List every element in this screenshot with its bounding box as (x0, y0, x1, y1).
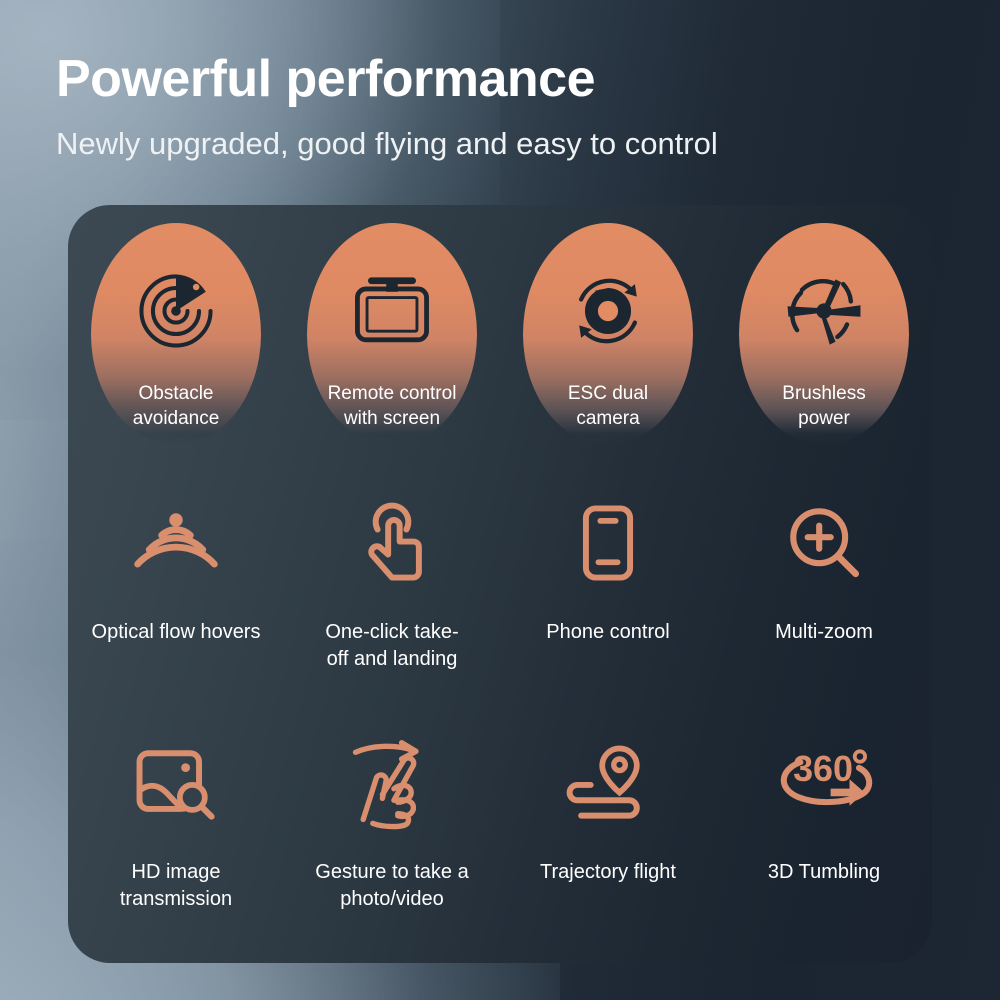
feature-label: Obstacle avoidance (68, 381, 284, 431)
360-rotation-icon: 360 (772, 735, 876, 831)
page-title: Powerful performance (56, 52, 956, 107)
feature-label: Brushless power (716, 381, 932, 431)
feature-one-click-takeoff[interactable]: One-click take- off and landing (284, 485, 500, 710)
feature-row-3: HD image transmission Gesture to take a (68, 725, 932, 950)
brushless-propeller-icon (776, 263, 872, 359)
promo-page: Powerful performance Newly upgraded, goo… (0, 0, 1000, 1000)
feature-trajectory-flight[interactable]: Trajectory flight (500, 725, 716, 950)
header: Powerful performance Newly upgraded, goo… (56, 52, 956, 162)
feature-phone-control[interactable]: Phone control (500, 485, 716, 710)
image-search-icon (124, 735, 228, 831)
feature-hd-image-transmission[interactable]: HD image transmission (68, 725, 284, 950)
feature-label: HD image transmission (120, 859, 232, 913)
feature-multi-zoom[interactable]: Multi-zoom (716, 485, 932, 710)
feature-remote-control[interactable]: Remote control with screen (284, 205, 500, 460)
feature-label: Gesture to take a photo/video (315, 859, 468, 913)
feature-label: ESC dual camera (500, 381, 716, 431)
feature-optical-flow-hovers[interactable]: Optical flow hovers (68, 485, 284, 710)
radar-obstacle-icon (128, 263, 224, 359)
optical-flow-waves-icon (124, 495, 228, 591)
feature-gesture-photo-video[interactable]: Gesture to take a photo/video (284, 725, 500, 950)
gesture-swipe-hand-icon (340, 735, 444, 831)
phone-icon (556, 495, 660, 591)
tap-hand-icon (340, 495, 444, 591)
feature-label: Phone control (546, 619, 669, 646)
magnifier-plus-icon (772, 495, 876, 591)
feature-label: Multi-zoom (775, 619, 873, 646)
feature-label: One-click take- off and landing (325, 619, 458, 673)
feature-label: Trajectory flight (540, 859, 676, 886)
esc-dual-camera-icon (560, 263, 656, 359)
remote-control-screen-icon (344, 263, 440, 359)
page-subtitle: Newly upgraded, good flying and easy to … (56, 125, 956, 162)
feature-esc-dual-camera[interactable]: ESC dual camera (500, 205, 716, 460)
feature-label: Optical flow hovers (92, 619, 261, 646)
feature-3d-tumbling[interactable]: 360 3D Tumbling (716, 725, 932, 950)
feature-row-2: Optical flow hovers One-click take- off … (68, 485, 932, 710)
feature-row-1: Obstacle avoidance Remote control with s… (68, 205, 932, 460)
svg-text:360: 360 (793, 748, 853, 789)
features-card: Obstacle avoidance Remote control with s… (68, 205, 932, 963)
feature-brushless-power[interactable]: Brushless power (716, 205, 932, 460)
feature-obstacle-avoidance[interactable]: Obstacle avoidance (68, 205, 284, 460)
feature-label: 3D Tumbling (768, 859, 880, 886)
map-pin-path-icon (556, 735, 660, 831)
feature-label: Remote control with screen (284, 381, 500, 431)
